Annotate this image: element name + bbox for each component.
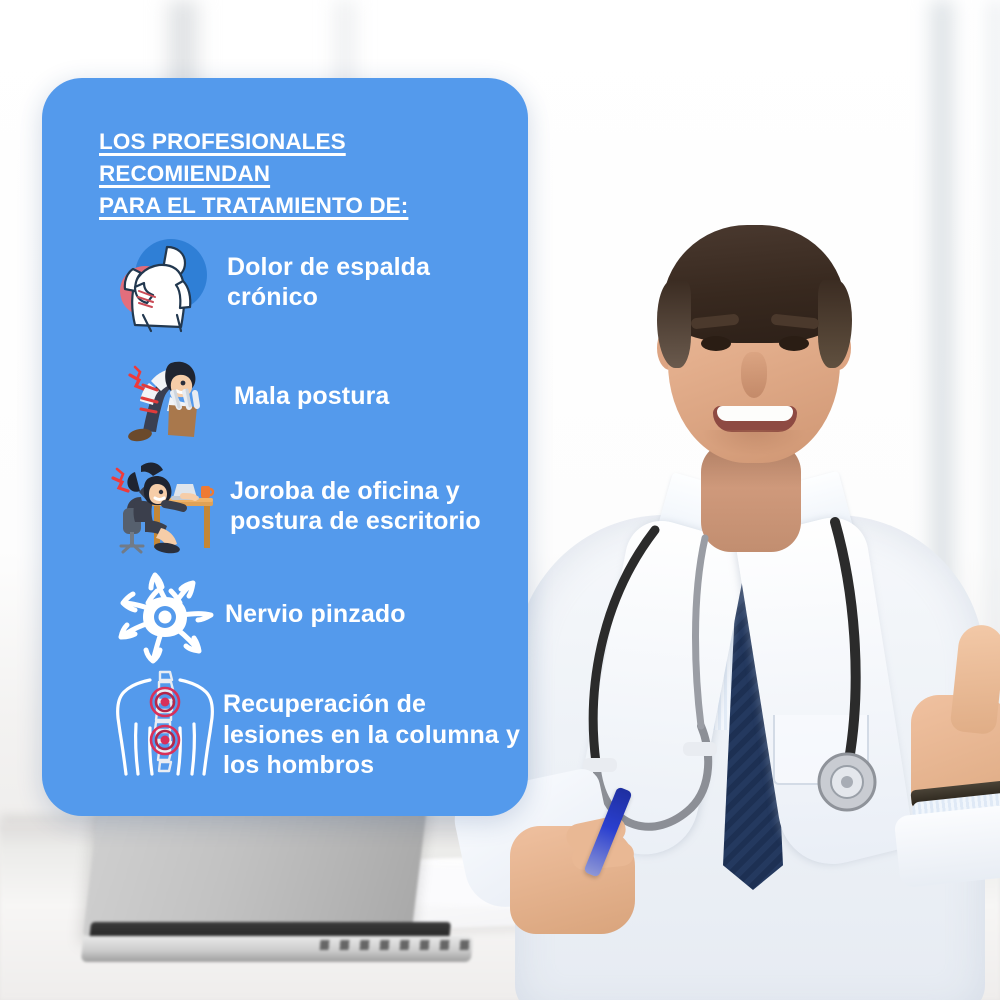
card-title-line-2: PARA EL TRATAMIENTO DE: xyxy=(99,193,408,218)
spine-injury-icon xyxy=(110,668,220,778)
list-item-label: Joroba de oficina y postura de escritori… xyxy=(230,476,528,537)
list-item-label: Recuperación de lesiones en la columna y… xyxy=(223,689,523,781)
list-item-label: Mala postura xyxy=(234,381,524,412)
eye-right xyxy=(779,336,809,351)
coat-pocket xyxy=(773,715,869,785)
recommendations-card: LOS PROFESIONALES RECOMIENDAN PARA EL TR… xyxy=(42,78,528,816)
list-item[interactable]: Mala postura xyxy=(42,342,528,450)
neuron-icon xyxy=(110,562,220,672)
list-item-label: Nervio pinzado xyxy=(225,599,515,630)
coat-sleeve xyxy=(894,804,1000,889)
chin-shadow xyxy=(701,430,807,456)
list-item[interactable]: Recuperación de lesiones en la columna y… xyxy=(42,666,528,806)
list-item[interactable]: Dolor de espalda crónico xyxy=(42,226,528,342)
teeth xyxy=(717,406,793,421)
office-desk-posture-icon xyxy=(106,450,216,560)
conditions-list: Dolor de espalda crónico xyxy=(42,226,528,806)
hair-sideburn-left xyxy=(657,280,691,368)
thumb xyxy=(949,623,1000,735)
list-item[interactable]: Nervio pinzado xyxy=(42,562,528,666)
doctor-figure xyxy=(505,130,1000,1000)
laptop-ports xyxy=(320,940,471,950)
bad-posture-icon xyxy=(110,342,220,452)
list-item[interactable]: Joroba de oficina y postura de escritori… xyxy=(42,450,528,562)
nose xyxy=(741,352,767,398)
smiling-mouth xyxy=(713,406,797,432)
eye-left xyxy=(701,336,731,351)
list-item-label: Dolor de espalda crónico xyxy=(227,252,517,313)
card-title: LOS PROFESIONALES RECOMIENDAN PARA EL TR… xyxy=(99,126,499,222)
thumbs-up-hand xyxy=(903,625,1000,855)
back-pain-icon xyxy=(108,228,218,338)
card-title-line-1: LOS PROFESIONALES RECOMIENDAN xyxy=(99,129,346,186)
hand-holding-pen xyxy=(510,790,670,960)
